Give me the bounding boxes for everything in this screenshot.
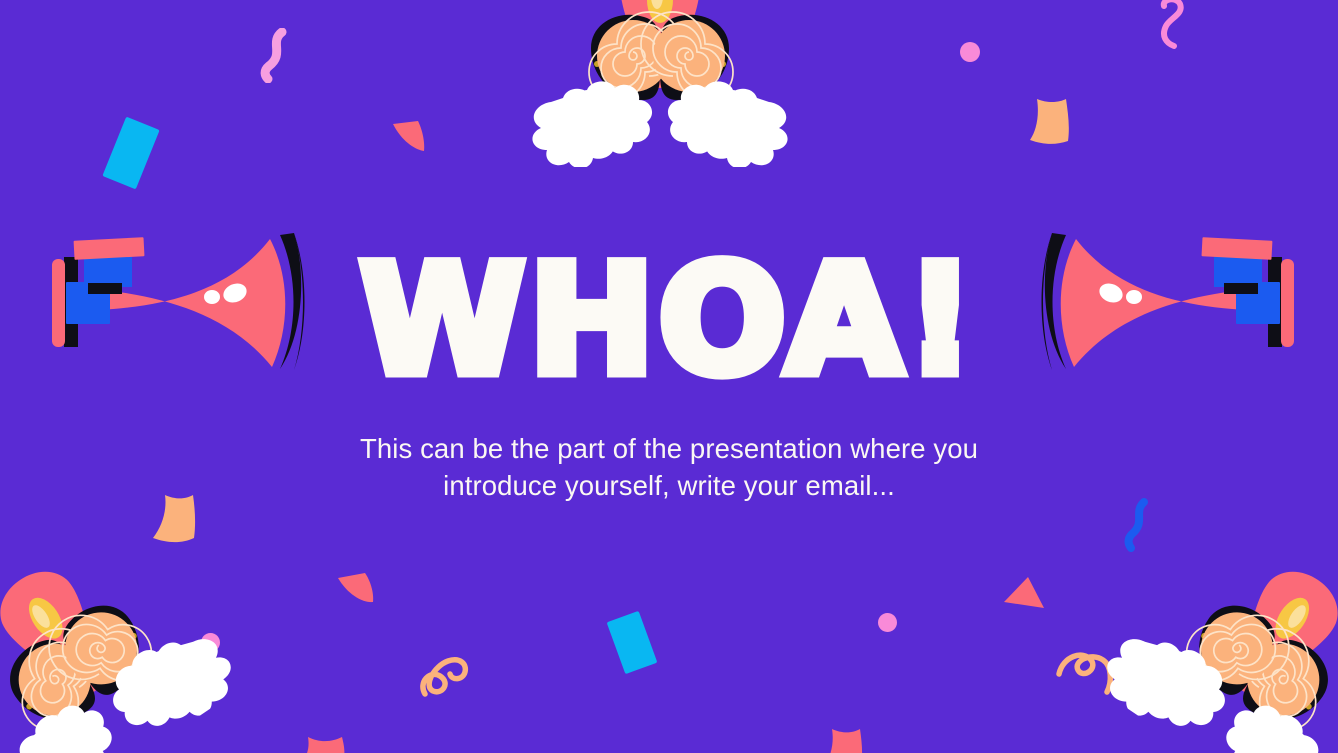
- slide-subtitle: This can be the part of the presentation…: [329, 431, 1009, 505]
- page-title: WHOA!: [360, 248, 979, 395]
- slide-text-block: WHOA! This can be the part of the presen…: [0, 0, 1338, 753]
- presentation-slide: WHOA! This can be the part of the presen…: [0, 0, 1338, 753]
